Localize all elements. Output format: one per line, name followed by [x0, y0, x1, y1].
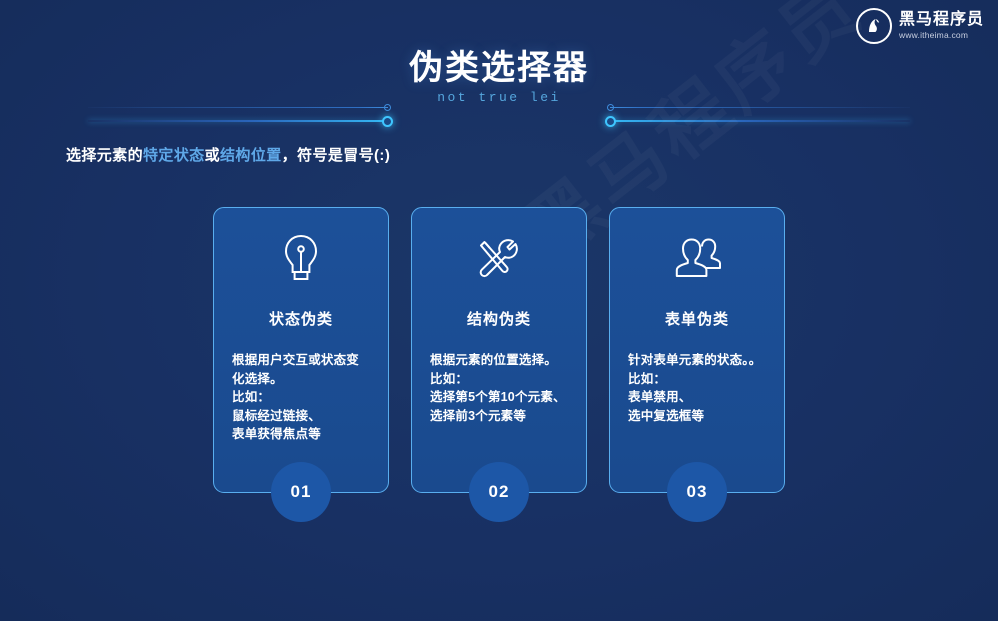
lead-part-1: 选择元素的	[66, 147, 143, 164]
lead-highlight-1: 特定状态	[143, 147, 205, 164]
card-title: 表单伪类	[628, 308, 766, 329]
slide-canvas: 黑马程序员 www.itheima.com 伪类选择器 not true lei…	[0, 0, 998, 621]
lightbulb-icon	[232, 208, 370, 302]
deco-dot-small-left	[384, 104, 391, 111]
deco-dot-small-right	[607, 104, 614, 111]
page-subtitle: not true lei	[0, 90, 998, 105]
deco-dot-big-right	[605, 116, 616, 127]
card-title: 结构伪类	[430, 308, 568, 329]
card-badge: 02	[469, 462, 529, 522]
deco-line-bottom-left	[88, 120, 388, 122]
horse-head-icon	[856, 8, 892, 44]
card-body: 根据用户交互或状态变化选择。 比如： 鼠标经过链接、 表单获得焦点等	[232, 351, 370, 444]
brand-logo: 黑马程序员 www.itheima.com	[856, 8, 984, 44]
lead-part-2: 或	[205, 147, 220, 164]
card-badge: 01	[271, 462, 331, 522]
card-status-pseudo-class[interactable]: 状态伪类 根据用户交互或状态变化选择。 比如： 鼠标经过链接、 表单获得焦点等 …	[213, 207, 389, 493]
lead-highlight-2: 结构位置	[220, 147, 282, 164]
card-body: 针对表单元素的状态。。 比如： 表单禁用、 选中复选框等	[628, 351, 766, 425]
deco-line-top-right	[610, 107, 910, 108]
title-zone: 伪类选择器 not true lei	[0, 40, 998, 120]
card-body: 根据元素的位置选择。 比如： 选择第5个第10个元素、 选择前3个元素等	[430, 351, 568, 425]
users-icon	[628, 208, 766, 302]
logo-url: www.itheima.com	[899, 31, 984, 40]
logo-name: 黑马程序员	[899, 12, 984, 28]
card-row: 状态伪类 根据用户交互或状态变化选择。 比如： 鼠标经过链接、 表单获得焦点等 …	[0, 207, 998, 493]
lead-part-3: ，符号是冒号(:)	[282, 147, 391, 164]
deco-dot-big-left	[382, 116, 393, 127]
card-form-pseudo-class[interactable]: 表单伪类 针对表单元素的状态。。 比如： 表单禁用、 选中复选框等 03	[609, 207, 785, 493]
deco-line-bottom-right	[610, 120, 910, 122]
tools-icon	[430, 208, 568, 302]
logo-text-block: 黑马程序员 www.itheima.com	[899, 12, 984, 40]
lead-text: 选择元素的特定状态或结构位置，符号是冒号(:)	[66, 144, 390, 165]
card-badge: 03	[667, 462, 727, 522]
card-title: 状态伪类	[232, 308, 370, 329]
deco-line-top-left	[88, 107, 388, 108]
card-structural-pseudo-class[interactable]: 结构伪类 根据元素的位置选择。 比如： 选择第5个第10个元素、 选择前3个元素…	[411, 207, 587, 493]
page-title: 伪类选择器	[0, 40, 998, 89]
